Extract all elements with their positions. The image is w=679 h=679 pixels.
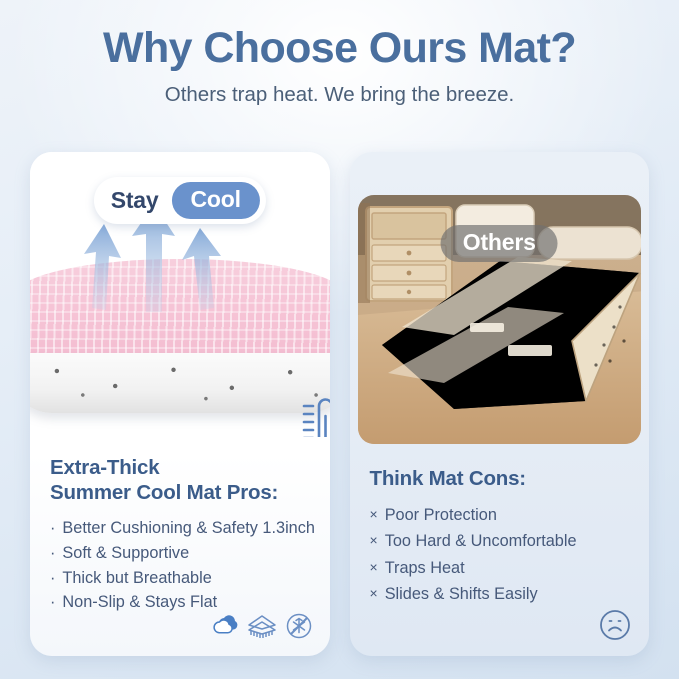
- pros-heading: Extra-Thick Summer Cool Mat Pros:: [50, 455, 310, 505]
- list-item: × Poor Protection: [370, 502, 630, 528]
- cons-heading: Think Mat Cons:: [370, 466, 630, 491]
- bullet-text: Poor Protection: [385, 502, 497, 528]
- bullet-text: Traps Heat: [385, 555, 465, 581]
- bullet-mark: ×: [370, 555, 378, 581]
- bullet-mark: ×: [370, 528, 378, 554]
- page-title: Why Choose Ours Mat?: [0, 26, 679, 72]
- others-badge: Others: [441, 225, 558, 262]
- bullet-mark: ·: [50, 566, 55, 591]
- pros-list: · Better Cushioning & Safety 1.3inch · S…: [50, 516, 310, 615]
- breathable-layers-icon: [247, 613, 277, 640]
- mat-foam-base: [30, 353, 330, 413]
- header: Why Choose Ours Mat? Others trap heat. W…: [0, 26, 679, 107]
- list-item: × Slides & Shifts Easily: [370, 581, 630, 607]
- list-item: × Traps Heat: [370, 555, 630, 581]
- bullet-text: Soft & Supportive: [62, 541, 189, 566]
- others-badge-label: Others: [463, 229, 536, 255]
- pros-card: Stay Cool: [30, 152, 330, 656]
- bullet-text: Thick but Breathable: [62, 566, 211, 591]
- temperature-icons: [288, 392, 330, 437]
- bullet-mark: ·: [50, 541, 55, 566]
- pros-heading-line-2: Summer Cool Mat Pros:: [50, 481, 278, 504]
- sad-face-icon: [598, 608, 632, 642]
- list-item: · Better Cushioning & Safety 1.3inch: [50, 516, 310, 541]
- anti-mite-icon: [285, 612, 313, 640]
- bullet-text: Non-Slip & Stays Flat: [62, 590, 217, 615]
- pros-illustration: Stay Cool: [30, 152, 330, 437]
- comparison-infographic: Why Choose Ours Mat? Others trap heat. W…: [0, 0, 679, 679]
- bullet-text: Too Hard & Uncomfortable: [385, 528, 577, 554]
- cons-text-block: Think Mat Cons: × Poor Protection × Too …: [350, 444, 650, 656]
- badge-word-stay: Stay: [111, 187, 172, 214]
- cooling-cloud-icon: [211, 613, 239, 639]
- badge-word-cool: Cool: [171, 182, 259, 219]
- list-item: · Soft & Supportive: [50, 541, 310, 566]
- cons-card: Others Think Mat Cons: × Poor Protection…: [350, 152, 650, 656]
- thermometer-icon: [304, 400, 330, 438]
- list-item: × Too Hard & Uncomfortable: [370, 528, 630, 554]
- stay-cool-badge: Stay Cool: [94, 177, 266, 224]
- feature-icon-row: [211, 612, 313, 640]
- bullet-text: Better Cushioning & Safety 1.3inch: [62, 516, 315, 541]
- bullet-text: Slides & Shifts Easily: [385, 581, 538, 607]
- bullet-mark: ×: [370, 581, 378, 607]
- list-item: · Thick but Breathable: [50, 566, 310, 591]
- cons-photo: Others: [358, 195, 642, 444]
- pros-heading-line-1: Extra-Thick: [50, 456, 159, 479]
- pros-text-block: Extra-Thick Summer Cool Mat Pros: · Bett…: [30, 437, 330, 656]
- page-subtitle: Others trap heat. We bring the breeze.: [0, 83, 679, 108]
- cons-list: × Poor Protection × Too Hard & Uncomfort…: [370, 502, 630, 608]
- bullet-mark: ·: [50, 516, 55, 541]
- bullet-mark: ×: [370, 502, 378, 528]
- comparison-cards: Stay Cool: [30, 152, 649, 656]
- bullet-mark: ·: [50, 590, 55, 615]
